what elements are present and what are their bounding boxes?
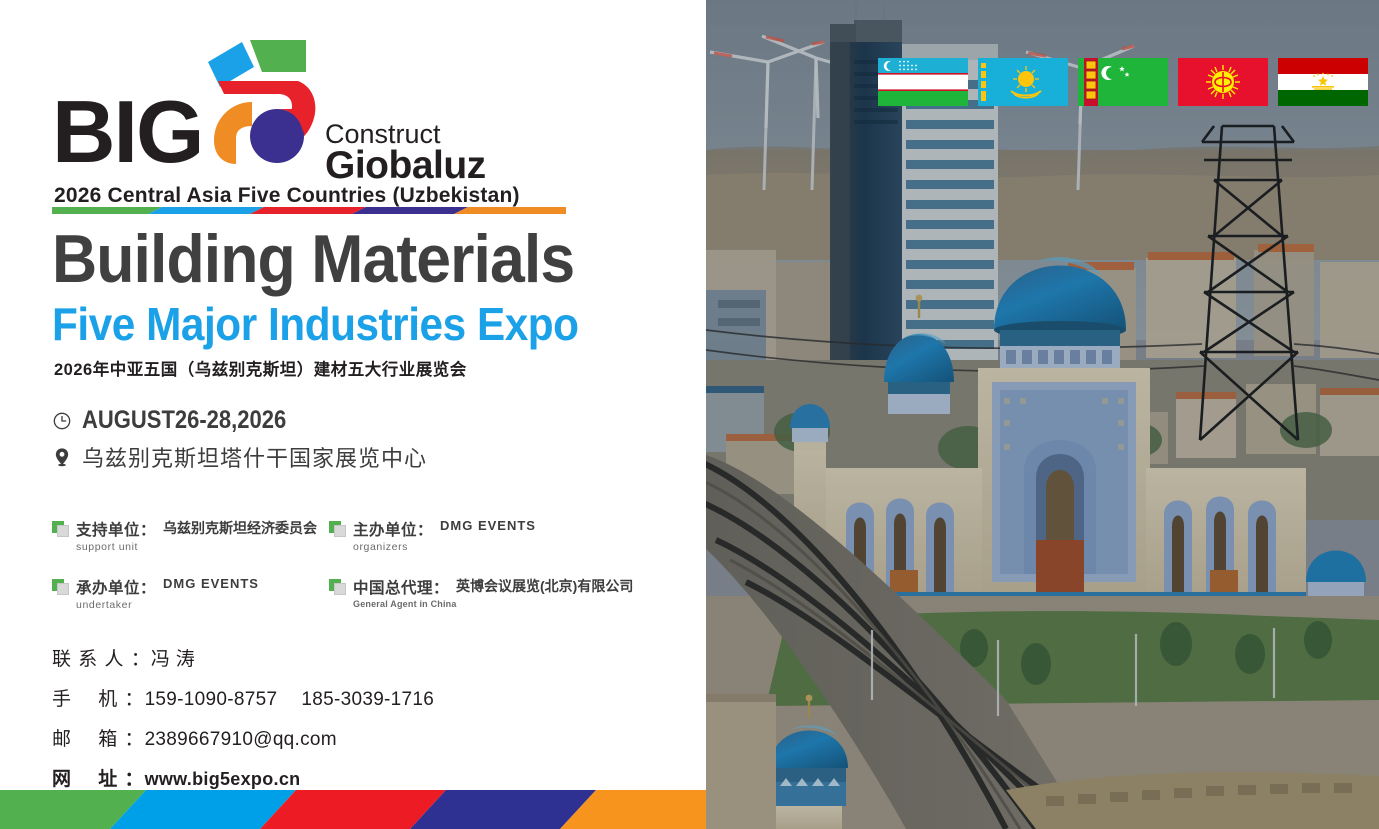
contact-phone-row: 手 机 ： 159-1090-8757 185-3039-1716 <box>52 684 434 711</box>
unit-organizer-label-en: organizers <box>353 541 536 553</box>
contact-phone-value-1[interactable]: 159-1090-8757 <box>145 689 278 711</box>
unit-support-value: 乌兹别克斯坦经济委员会 <box>163 518 317 538</box>
unit-support-label-en: support unit <box>76 541 317 553</box>
logo-giobaluz-label: Giobaluz <box>325 146 486 185</box>
left-info-panel: BIG Construct Giobaluz 2026 Cen <box>0 0 706 829</box>
location-pin-icon <box>52 446 72 468</box>
unit-china-agent-label: 中国总代理： <box>353 576 449 598</box>
event-subtitle: 2026 Central Asia Five Countries (Uzbeki… <box>54 184 520 208</box>
clock-icon <box>52 410 72 432</box>
contact-phone-label: 手 机 ： <box>52 684 145 711</box>
cityscape-illustration <box>706 0 1379 829</box>
tashkent-cityscape-photo <box>706 0 1379 829</box>
unit-undertaker: 承办单位： DMG EVENTS undertaker <box>52 576 259 611</box>
main-title-line1: Building Materials <box>52 228 574 291</box>
contact-block: 联 系 人 ： 冯 涛 手 机 ： 159-1090-8757 185-3039… <box>52 644 434 804</box>
unit-organizer: 主办单位： DMG EVENTS organizers <box>329 518 536 553</box>
rainbow-divider <box>52 207 566 214</box>
unit-china-agent: 中国总代理： 英博会议展览(北京)有限公司 General Agent in C… <box>329 576 633 609</box>
contact-phone-value-2[interactable]: 185-3039-1716 <box>301 689 434 711</box>
bullet-square-icon <box>329 521 346 537</box>
contact-person-row: 联 系 人 ： 冯 涛 <box>52 644 434 671</box>
unit-undertaker-value: DMG EVENTS <box>163 576 259 591</box>
tajikistan-flag <box>1278 58 1368 106</box>
logo-wordmark-text: Construct Giobaluz <box>325 120 486 185</box>
unit-support: 支持单位： 乌兹别克斯坦经济委员会 support unit <box>52 518 317 553</box>
contact-email-value[interactable]: 2389667910@qq.com <box>145 729 337 751</box>
event-venue-text: 乌兹别克斯坦塔什干国家展览中心 <box>82 441 427 473</box>
logo-wordmark-big: BIG <box>52 88 202 176</box>
big5-construct-logo: BIG Construct Giobaluz <box>52 36 472 166</box>
event-venue-row: 乌兹别克斯坦塔什干国家展览中心 <box>52 441 427 473</box>
unit-undertaker-label: 承办单位： <box>76 576 156 598</box>
unit-undertaker-label-en: undertaker <box>76 599 259 611</box>
expo-poster: BIG Construct Giobaluz 2026 Cen <box>0 0 1379 829</box>
uzbekistan-flag <box>878 58 968 106</box>
contact-person-label: 联 系 人 ： <box>52 644 151 671</box>
contact-email-label: 邮 箱 ： <box>52 724 145 751</box>
bullet-square-icon <box>52 579 69 595</box>
unit-support-label: 支持单位： <box>76 518 156 540</box>
unit-organizer-value: DMG EVENTS <box>440 518 536 533</box>
kazakhstan-flag <box>978 58 1068 106</box>
bullet-square-icon <box>329 579 346 595</box>
bullet-square-icon <box>52 521 69 537</box>
main-title-chinese: 2026年中亚五国（乌兹别克斯坦）建材五大行业展览会 <box>54 356 467 380</box>
bottom-rainbow-strip <box>0 790 706 829</box>
contact-person-value: 冯 涛 <box>151 644 195 671</box>
country-flags-row <box>878 58 1368 106</box>
turkmenistan-flag <box>1078 58 1168 106</box>
contact-website-label: 网 址 ： <box>52 764 145 791</box>
unit-china-agent-value: 英博会议展览(北京)有限公司 <box>456 576 633 596</box>
kyrgyzstan-flag <box>1178 58 1268 106</box>
contact-email-row: 邮 箱 ： 2389667910@qq.com <box>52 724 434 751</box>
big5-numeral-icon <box>202 36 320 166</box>
event-date-text: AUGUST26-28,2026 <box>82 406 286 435</box>
contact-website-row: 网 址 ： www.big5expo.cn <box>52 764 434 791</box>
main-title-line2: Five Major Industries Expo <box>52 303 579 347</box>
contact-website-value[interactable]: www.big5expo.cn <box>145 769 301 790</box>
unit-organizer-label: 主办单位： <box>353 518 433 540</box>
unit-china-agent-label-en: General Agent in China <box>353 599 633 609</box>
event-date-row: AUGUST26-28,2026 <box>52 406 314 435</box>
